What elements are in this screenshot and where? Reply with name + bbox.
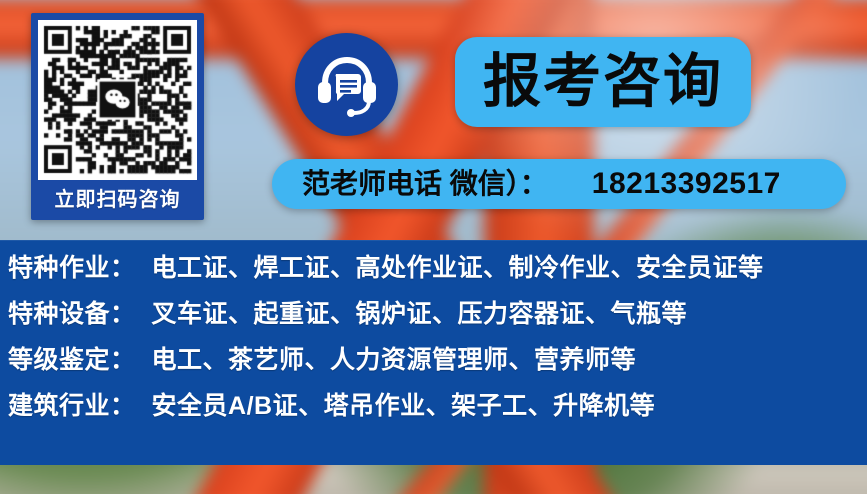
certificate-info-row: 特种设备：叉车证、起重证、锅炉证、压力容器证、气瓶等 xyxy=(8,302,867,327)
phone-number[interactable]: 18213392517 xyxy=(592,169,781,199)
qr-code-image[interactable] xyxy=(38,20,197,180)
certificate-info-list: 特种作业：电工证、焊工证、高处作业证、制冷作业、安全员证等特种设备：叉车证、起重… xyxy=(0,240,867,419)
certificate-items-text: 电工、茶艺师、人力资源管理师、营养师等 xyxy=(152,348,637,373)
certificate-category-label: 特种作业： xyxy=(8,256,136,281)
certificate-category-label: 特种设备： xyxy=(8,302,136,327)
headset-support-badge xyxy=(295,33,398,136)
headset-support-icon xyxy=(311,49,383,121)
certificate-items-text: 电工证、焊工证、高处作业证、制冷作业、安全员证等 xyxy=(152,256,764,281)
title-pill[interactable]: 报考咨询 xyxy=(455,37,751,127)
certificate-info-row: 建筑行业：安全员A/B证、塔吊作业、架子工、升降机等 xyxy=(8,394,867,419)
phone-label: 范老师电话 微信）： xyxy=(302,170,548,198)
certificate-items-text: 叉车证、起重证、锅炉证、压力容器证、气瓶等 xyxy=(152,302,688,327)
certificate-info-row: 特种作业：电工证、焊工证、高处作业证、制冷作业、安全员证等 xyxy=(8,256,867,281)
qr-label: 立即扫码咨询 xyxy=(31,183,204,212)
certificate-category-label: 建筑行业： xyxy=(8,394,136,419)
qr-card[interactable]: 立即扫码咨询 xyxy=(31,13,204,220)
phone-pill[interactable]: 范老师电话 微信）： 18213392517 xyxy=(272,159,846,209)
certificate-items-text: 安全员A/B证、塔吊作业、架子工、升降机等 xyxy=(152,394,656,419)
promo-poster: 立即扫码咨询 报考咨询 xyxy=(0,0,867,494)
certificate-info-panel: 特种作业：电工证、焊工证、高处作业证、制冷作业、安全员证等特种设备：叉车证、起重… xyxy=(0,240,867,465)
title-pill-text: 报考咨询 xyxy=(483,53,723,111)
certificate-info-row: 等级鉴定：电工、茶艺师、人力资源管理师、营养师等 xyxy=(8,348,867,373)
certificate-category-label: 等级鉴定： xyxy=(8,348,136,373)
qr-code-canvas xyxy=(38,20,197,180)
